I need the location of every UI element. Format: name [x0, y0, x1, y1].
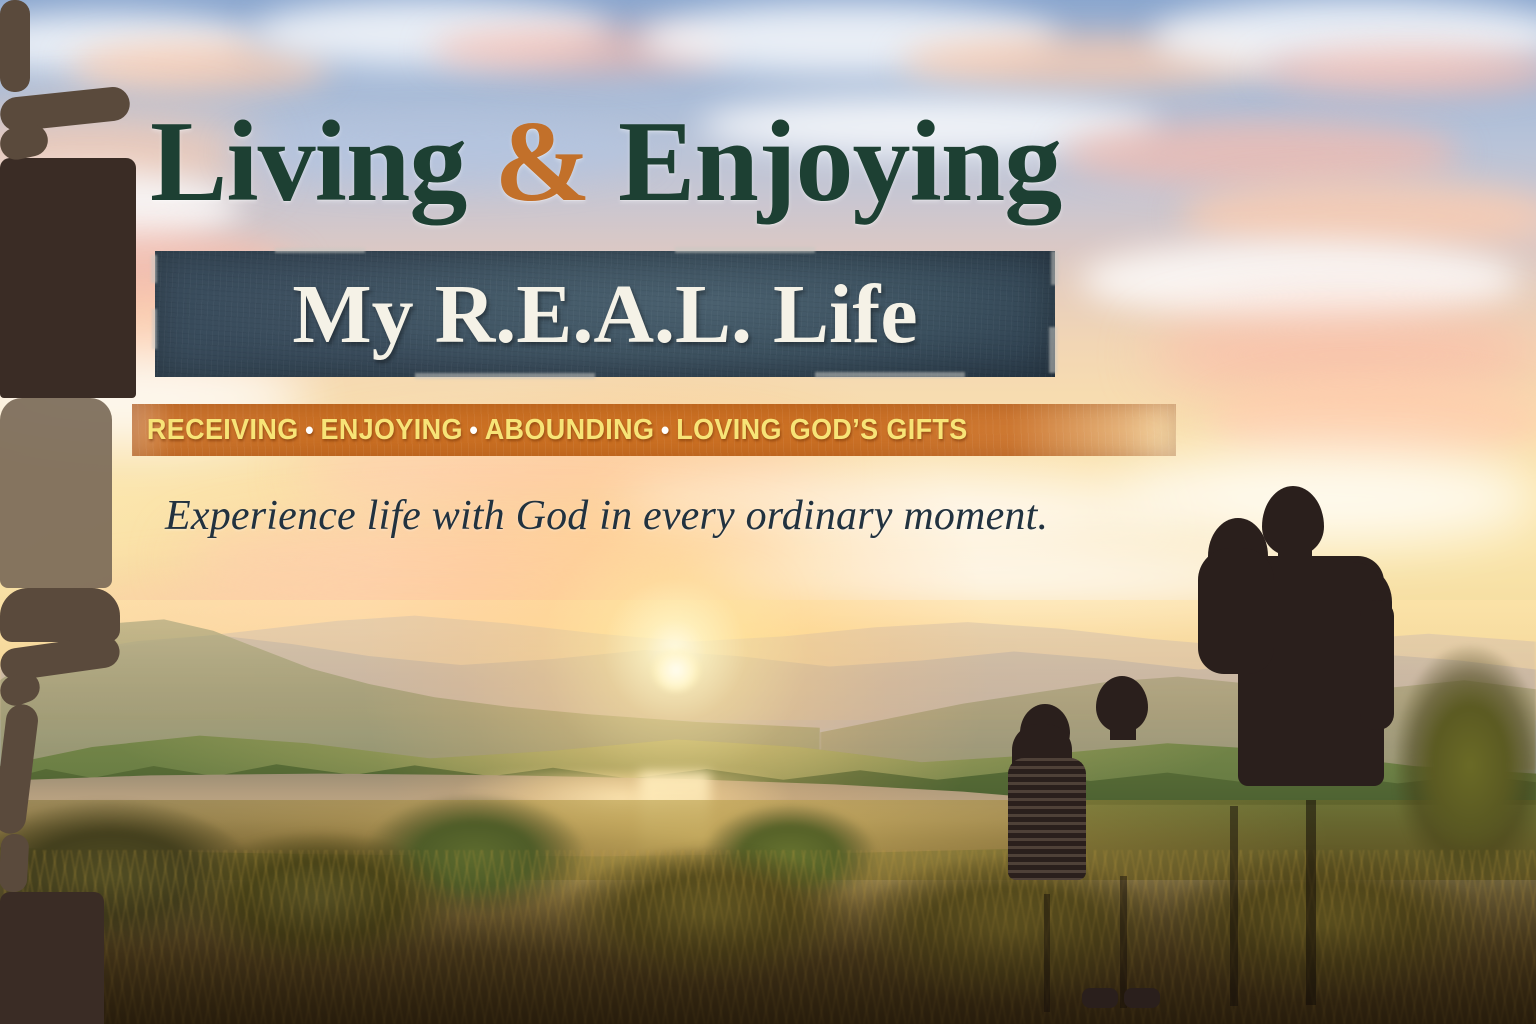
subtitle-item-receiving: RECEIVING: [147, 414, 299, 447]
bullet-icon: •: [654, 415, 676, 446]
subtitle-item-abounding: ABOUNDING: [485, 414, 655, 447]
bullet-icon: •: [299, 415, 321, 446]
family-silhouette: [0, 0, 136, 1024]
cloud: [1120, 450, 1536, 546]
cloud: [1080, 240, 1520, 320]
shirt-stripes: [1008, 758, 1086, 880]
figure-father: [0, 0, 136, 398]
cloud: [1060, 120, 1460, 186]
figure-mother: [0, 398, 136, 1024]
ampersand-icon: &: [494, 98, 590, 226]
sun-icon: [652, 648, 700, 692]
title-band-text: My R.E.A.L. Life: [155, 251, 1055, 377]
subtitle-item-loving-gods-gifts: LOVING GOD’S GIFTS: [676, 414, 967, 447]
headline-part-1: Living: [150, 98, 494, 226]
bullet-icon: •: [463, 415, 485, 446]
cloud: [1210, 380, 1536, 460]
hero-banner: Living & Enjoying My R.E.A.L. Life RECEI…: [0, 0, 1536, 1024]
subtitle-band-text: RECEIVING • ENJOYING • ABOUNDING • LOVIN…: [132, 404, 1103, 456]
subtitle-item-enjoying: ENJOYING: [320, 414, 462, 447]
tagline: Experience life with God in every ordina…: [165, 492, 1048, 540]
headline-part-2: Enjoying: [590, 98, 1061, 226]
page-title: Living & Enjoying: [150, 104, 1061, 220]
